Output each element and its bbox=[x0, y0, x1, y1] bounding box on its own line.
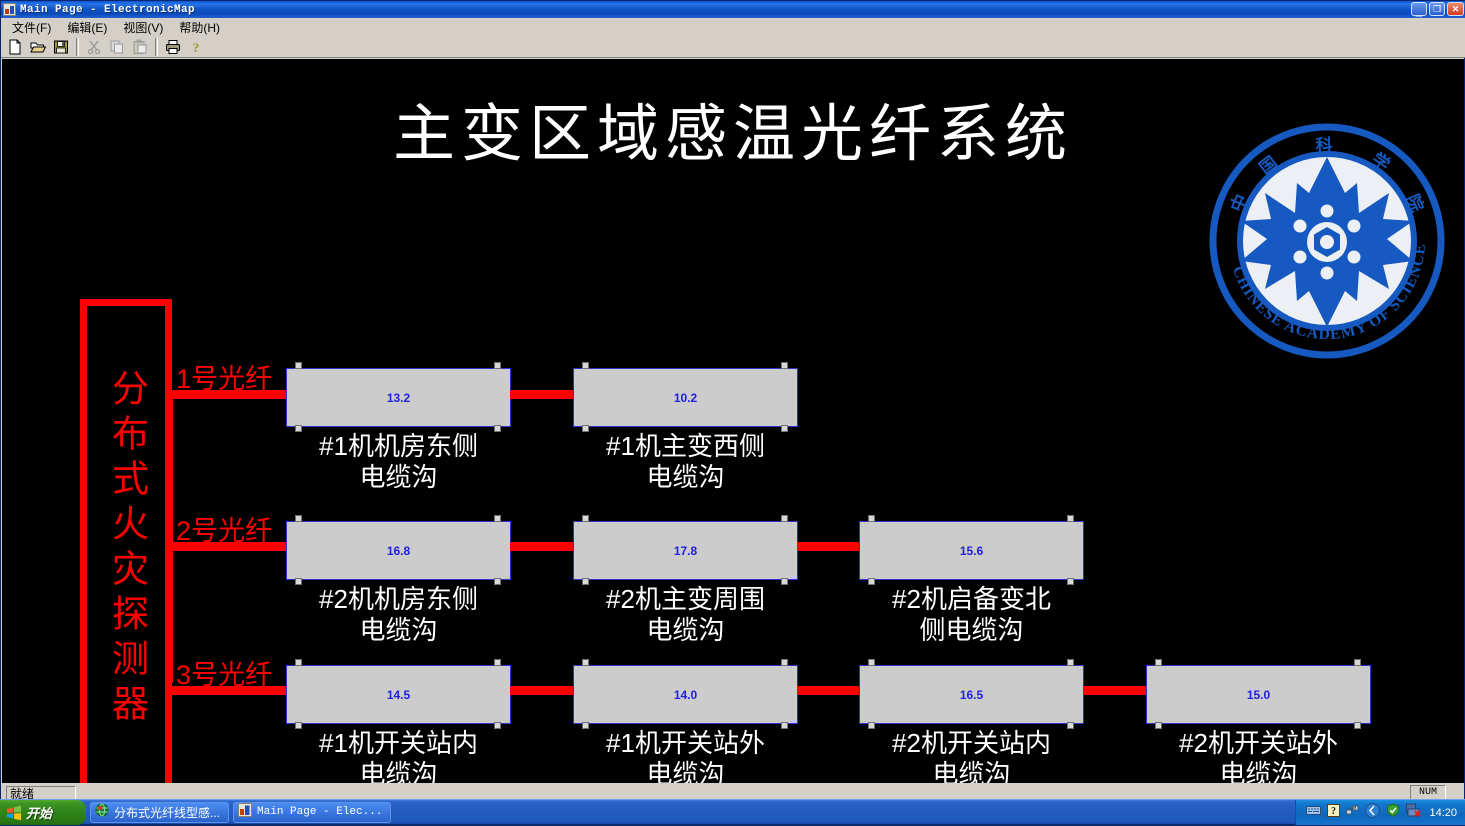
zone-caption: #2机启备变北 侧电缆沟 bbox=[859, 584, 1084, 646]
toolbar-separator-2 bbox=[155, 38, 158, 56]
diagram-canvas[interactable]: 主变区域感温光纤系统 bbox=[2, 59, 1464, 783]
shield-icon[interactable] bbox=[1386, 803, 1400, 822]
detector-label: 分布式火灾探测器 bbox=[104, 369, 149, 729]
distributed-fire-detector-box[interactable]: 分布式火灾探测器 bbox=[80, 299, 172, 783]
taskbar-item-main-page[interactable]: Main Page - Elec... bbox=[233, 802, 391, 823]
start-button[interactable]: 开始 bbox=[0, 800, 86, 825]
zone-box[interactable]: 14.0 bbox=[573, 665, 798, 724]
zone-caption: #2机机房东侧 电缆沟 bbox=[286, 584, 511, 646]
selection-handle[interactable] bbox=[781, 659, 788, 666]
app-icon[interactable] bbox=[3, 3, 16, 16]
windows-flag-icon bbox=[6, 805, 21, 820]
selection-handle[interactable] bbox=[1067, 659, 1074, 666]
help-icon[interactable]: ? bbox=[1327, 804, 1340, 822]
selection-handle[interactable] bbox=[582, 515, 589, 522]
restore-button[interactable]: ❐ bbox=[1429, 2, 1445, 16]
zone-temperature: 15.0 bbox=[1147, 688, 1370, 702]
selection-handle[interactable] bbox=[1067, 515, 1074, 522]
toolbar-open[interactable] bbox=[27, 36, 49, 57]
clock[interactable]: 14:20 bbox=[1429, 807, 1457, 819]
zone-caption: #2机开关站外 电缆沟 bbox=[1146, 728, 1371, 783]
fiber-2-label: 2号光纤 bbox=[176, 509, 272, 548]
window-controls: _ ❐ ✕ bbox=[1411, 2, 1464, 16]
selection-handle[interactable] bbox=[494, 362, 501, 369]
selection-handle[interactable] bbox=[295, 362, 302, 369]
toolbar-new[interactable] bbox=[4, 36, 26, 57]
start-label: 开始 bbox=[26, 803, 52, 822]
open-folder-icon bbox=[30, 39, 46, 55]
selection-handle[interactable] bbox=[781, 515, 788, 522]
title-bar[interactable]: Main Page - ElectronicMap _ ❐ ✕ bbox=[1, 1, 1465, 18]
zone-temperature: 10.2 bbox=[574, 391, 797, 405]
zone-caption: #2机主变周围 电缆沟 bbox=[573, 584, 798, 646]
keyboard-icon[interactable] bbox=[1306, 804, 1321, 822]
zone-temperature: 13.2 bbox=[287, 391, 510, 405]
svg-text:?: ? bbox=[193, 40, 200, 55]
zone-box[interactable]: 13.2 bbox=[286, 368, 511, 427]
selection-handle[interactable] bbox=[781, 362, 788, 369]
zone-temperature: 17.8 bbox=[574, 544, 797, 558]
copy-icon bbox=[109, 39, 125, 55]
chinese-academy-of-sciences-logo: 中 国 科 学 院 CHINESE ACADEMY OF SCIENCES bbox=[1207, 121, 1447, 361]
app-icon bbox=[238, 803, 252, 822]
minimize-button[interactable]: _ bbox=[1411, 2, 1427, 16]
window-title: Main Page - ElectronicMap bbox=[20, 4, 195, 16]
selection-handle[interactable] bbox=[868, 659, 875, 666]
zone-temperature: 15.6 bbox=[860, 544, 1083, 558]
zone-box[interactable]: 10.2 bbox=[573, 368, 798, 427]
selection-handle[interactable] bbox=[582, 362, 589, 369]
zone-box[interactable]: 15.6 bbox=[859, 521, 1084, 580]
system-tray: ? bbox=[1295, 800, 1465, 825]
zone-temperature: 16.8 bbox=[287, 544, 510, 558]
zone-caption: #2机开关站内 电缆沟 bbox=[859, 728, 1084, 783]
zone-caption: #1机开关站外 电缆沟 bbox=[573, 728, 798, 783]
paste-clipboard-icon bbox=[132, 39, 148, 55]
toolbar-paste[interactable] bbox=[129, 36, 151, 57]
zone-caption: #1机机房东侧 电缆沟 bbox=[286, 431, 511, 493]
fiber-1-label: 1号光纤 bbox=[176, 357, 272, 396]
svg-text:科: 科 bbox=[1315, 135, 1333, 156]
svg-text:?: ? bbox=[1331, 806, 1336, 817]
selection-handle[interactable] bbox=[1354, 659, 1361, 666]
zone-box[interactable]: 16.5 bbox=[859, 665, 1084, 724]
print-icon bbox=[165, 39, 181, 55]
taskbar-item-fiber-app[interactable]: 分布式光纤线型感... bbox=[90, 802, 229, 823]
menu-edit[interactable]: 编辑(E) bbox=[59, 18, 115, 37]
selection-handle[interactable] bbox=[1155, 659, 1162, 666]
selection-handle[interactable] bbox=[494, 515, 501, 522]
menu-bar: 文件(F) 编辑(E) 视图(V) 帮助(H) bbox=[1, 18, 1465, 36]
taskbar: 开始 分布式光纤线型感... Main Page - Elec... bbox=[0, 799, 1465, 824]
menu-help[interactable]: 帮助(H) bbox=[171, 18, 228, 37]
menu-view[interactable]: 视图(V) bbox=[115, 18, 171, 37]
selection-handle[interactable] bbox=[494, 659, 501, 666]
toolbar-copy[interactable] bbox=[106, 36, 128, 57]
menu-file[interactable]: 文件(F) bbox=[4, 18, 59, 37]
zone-box[interactable]: 16.8 bbox=[286, 521, 511, 580]
zone-box[interactable]: 15.0 bbox=[1146, 665, 1371, 724]
toolbar-separator-1 bbox=[76, 38, 79, 56]
save-disk-icon bbox=[53, 39, 69, 55]
link-wire bbox=[510, 686, 575, 695]
taskbar-item-label: Main Page - Elec... bbox=[257, 806, 382, 818]
zone-caption: #1机主变西侧 电缆沟 bbox=[573, 431, 798, 493]
network-icon[interactable] bbox=[1346, 804, 1359, 822]
cut-scissors-icon bbox=[86, 39, 102, 55]
link-wire bbox=[797, 686, 862, 695]
close-button[interactable]: ✕ bbox=[1447, 2, 1464, 16]
zone-caption: #1机开关站内 电缆沟 bbox=[286, 728, 511, 783]
selection-handle[interactable] bbox=[295, 515, 302, 522]
zone-box[interactable]: 14.5 bbox=[286, 665, 511, 724]
globe-icon bbox=[95, 803, 109, 822]
toolbar-save[interactable] bbox=[50, 36, 72, 57]
zone-temperature: 16.5 bbox=[860, 688, 1083, 702]
selection-handle[interactable] bbox=[295, 659, 302, 666]
toolbar-print[interactable] bbox=[162, 36, 184, 57]
help-key-icon: ? bbox=[188, 39, 204, 55]
selection-handle[interactable] bbox=[582, 659, 589, 666]
trunk-wire-vertical bbox=[165, 391, 173, 683]
toolbar-cut[interactable] bbox=[83, 36, 105, 57]
taskbar-item-label: 分布式光纤线型感... bbox=[114, 804, 220, 821]
new-document-icon bbox=[7, 39, 23, 55]
link-wire bbox=[797, 542, 862, 551]
error-icon[interactable] bbox=[1406, 803, 1421, 822]
media-icon[interactable] bbox=[1365, 803, 1380, 823]
zone-temperature: 14.0 bbox=[574, 688, 797, 702]
toolbar: ? bbox=[1, 36, 1465, 58]
link-wire bbox=[1083, 686, 1148, 695]
link-wire bbox=[510, 542, 575, 551]
zone-temperature: 14.5 bbox=[287, 688, 510, 702]
fiber-3-label: 3号光纤 bbox=[176, 653, 272, 692]
selection-handle[interactable] bbox=[868, 515, 875, 522]
zone-box[interactable]: 17.8 bbox=[573, 521, 798, 580]
link-wire bbox=[510, 390, 575, 399]
application-window: Main Page - ElectronicMap _ ❐ ✕ 文件(F) 编辑… bbox=[0, 0, 1465, 806]
toolbar-help[interactable]: ? bbox=[185, 36, 207, 57]
